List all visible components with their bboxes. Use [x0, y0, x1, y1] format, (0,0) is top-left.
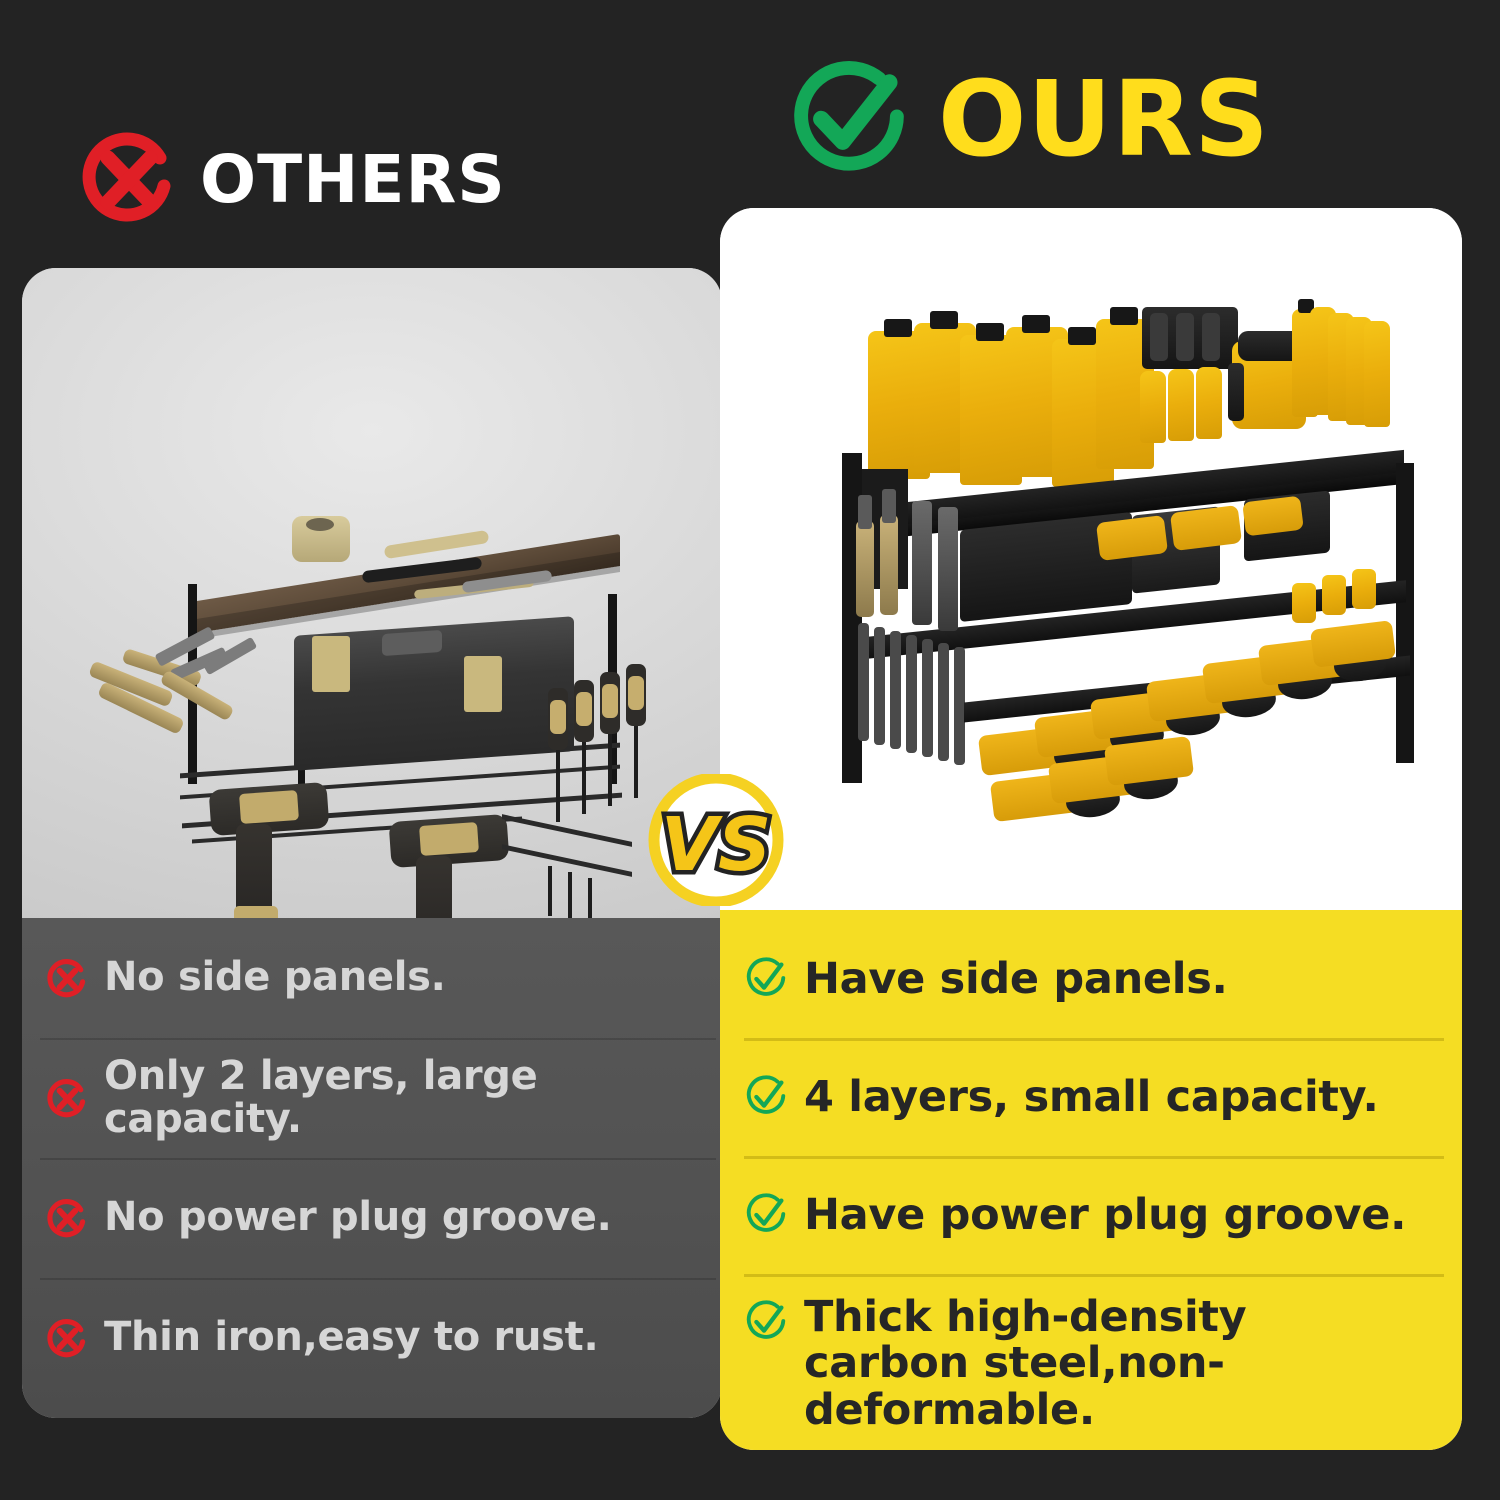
x-circle-icon — [78, 130, 178, 230]
ours-title: OURS — [938, 67, 1270, 171]
others-feature-list: No side panels. Only 2 layers, large cap… — [22, 918, 722, 1418]
list-item: No power plug groove. — [22, 1158, 722, 1278]
others-card: No side panels. Only 2 layers, large cap… — [22, 268, 722, 1418]
list-item: Have power plug groove. — [720, 1156, 1462, 1274]
ours-rack-illustration — [840, 283, 1440, 863]
list-item-label: No power plug groove. — [104, 1196, 612, 1239]
list-item: Thick high-density carbon steel,non-defo… — [720, 1274, 1462, 1449]
ours-card: Have side panels. 4 layers, small capaci… — [720, 208, 1462, 1450]
ours-product-photo — [720, 208, 1462, 910]
list-item: Thin iron,easy to rust. — [22, 1278, 722, 1398]
list-item-label: Thin iron,easy to rust. — [104, 1316, 598, 1359]
check-circle-icon — [742, 1073, 790, 1121]
x-circle-icon — [44, 1314, 90, 1362]
check-circle-icon — [742, 1294, 790, 1346]
list-item-label: Have side panels. — [804, 956, 1228, 1002]
list-item-label: No side panels. — [104, 956, 446, 999]
check-circle-icon — [742, 955, 790, 1003]
vs-badge: VS — [632, 774, 800, 906]
ours-feature-list: Have side panels. 4 layers, small capaci… — [720, 910, 1462, 1450]
list-item: 4 layers, small capacity. — [720, 1038, 1462, 1156]
others-product-photo — [22, 268, 722, 918]
check-circle-icon — [742, 1191, 790, 1239]
list-item: No side panels. — [22, 918, 722, 1038]
list-item-label: Thick high-density carbon steel,non-defo… — [804, 1294, 1404, 1433]
check-circle-icon — [786, 56, 912, 182]
list-item: Only 2 layers, large capacity. — [22, 1038, 722, 1158]
list-item-label: Have power plug groove. — [804, 1192, 1406, 1238]
x-circle-icon — [44, 1074, 90, 1122]
list-item: Have side panels. — [720, 920, 1462, 1038]
x-circle-icon — [44, 1194, 90, 1242]
others-rack-illustration — [62, 388, 682, 908]
vs-badge-label: VS — [661, 802, 772, 888]
ours-header: OURS — [786, 56, 1270, 182]
others-title: OTHERS — [200, 147, 506, 213]
list-item-label: 4 layers, small capacity. — [804, 1074, 1379, 1120]
others-header: OTHERS — [78, 130, 506, 230]
x-circle-icon — [44, 954, 90, 1002]
list-item-label: Only 2 layers, large capacity. — [104, 1055, 700, 1141]
